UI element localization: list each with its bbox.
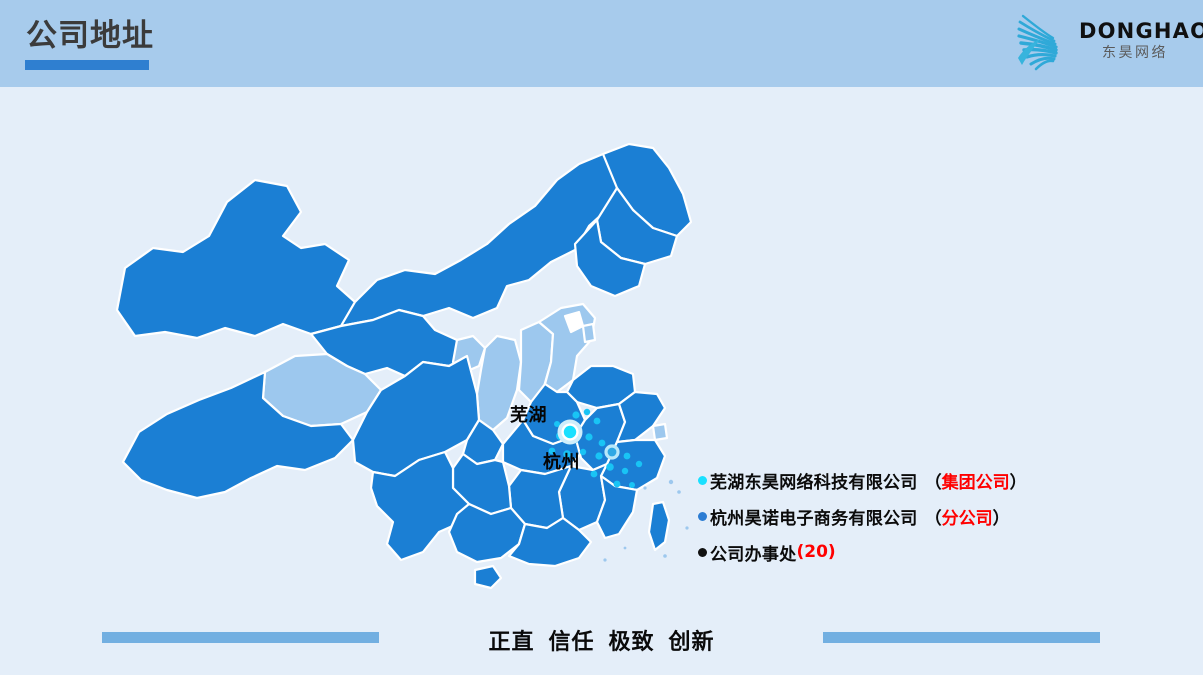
- office-marker: [594, 418, 601, 425]
- slogan-word-2: 信任: [548, 630, 594, 655]
- slogan-word-1: 正直: [488, 630, 534, 655]
- slogan-word-3: 极致: [609, 630, 655, 655]
- page-title: 公司地址: [26, 16, 154, 56]
- office-marker: [580, 449, 586, 455]
- office-marker: [572, 411, 579, 418]
- province-hainan: [475, 566, 501, 588]
- hangzhou-marker: [604, 444, 619, 459]
- office-marker: [606, 463, 614, 471]
- office-marker: [591, 471, 598, 478]
- donghao-feather-logo-icon: [1013, 10, 1081, 72]
- china-map-svg: [105, 140, 725, 610]
- slide-root: 公司地址 DONGHAO 东昊网络: [0, 0, 1203, 675]
- province-shanghai: [653, 424, 667, 440]
- slogan-word-4: 创新: [669, 630, 715, 655]
- map-label-hangzhou: 杭州: [543, 448, 580, 474]
- office-marker: [629, 482, 635, 488]
- legend-label-group: 芜湖东昊网络科技有限公司: [710, 468, 918, 493]
- map-label-wuhu: 芜湖: [510, 401, 547, 427]
- legend-branch-company: 杭州昊诺电子商务有限公司 （ 分公司 ）: [698, 498, 1168, 534]
- legend-highlight-branch: 分公司: [942, 504, 993, 529]
- legend-dot-group: [698, 476, 707, 485]
- province-tianjin: [583, 324, 595, 342]
- legend-paren-open-group: （: [925, 468, 942, 493]
- legend-paren-close-group: ）: [1010, 468, 1027, 493]
- legend-group-company: 芜湖东昊网络科技有限公司 （ 集团公司 ）: [698, 462, 1168, 498]
- office-marker: [599, 440, 606, 447]
- logo-subtitle: 东昊网络: [1079, 44, 1191, 62]
- logo-name: DONGHAO: [1079, 20, 1191, 43]
- legend-label-branch: 杭州昊诺电子商务有限公司: [710, 504, 918, 529]
- logo-text-block: DONGHAO 东昊网络: [1079, 20, 1191, 62]
- legend-highlight-group: 集团公司: [942, 468, 1010, 493]
- office-marker: [585, 433, 592, 440]
- office-marker: [595, 452, 602, 459]
- legend-paren-close-branch: ）: [993, 504, 1010, 529]
- legend: 芜湖东昊网络科技有限公司 （ 集团公司 ） 杭州昊诺电子商务有限公司 （ 分公司…: [698, 462, 1168, 570]
- wuhu-marker: [558, 420, 583, 445]
- province-xinjiang: [117, 180, 355, 338]
- province-taiwan: [649, 502, 669, 550]
- office-marker: [624, 453, 631, 460]
- office-marker: [584, 409, 590, 415]
- china-map: 芜湖 杭州: [105, 140, 725, 610]
- legend-label-offices: 公司办事处: [710, 540, 797, 565]
- office-marker: [614, 481, 621, 488]
- legend-dot-branch: [698, 512, 707, 521]
- company-logo: DONGHAO 东昊网络: [1013, 8, 1189, 76]
- office-marker: [636, 461, 642, 467]
- office-marker: [622, 468, 628, 474]
- legend-dot-offices: [698, 548, 707, 557]
- legend-offices: 公司办事处 (20): [698, 534, 1168, 570]
- footer-slogan: 正直信任极致创新: [0, 624, 1203, 656]
- title-underline-bar: [25, 60, 149, 70]
- legend-highlight-offices: (20): [797, 542, 836, 562]
- legend-paren-open-branch: （: [925, 504, 942, 529]
